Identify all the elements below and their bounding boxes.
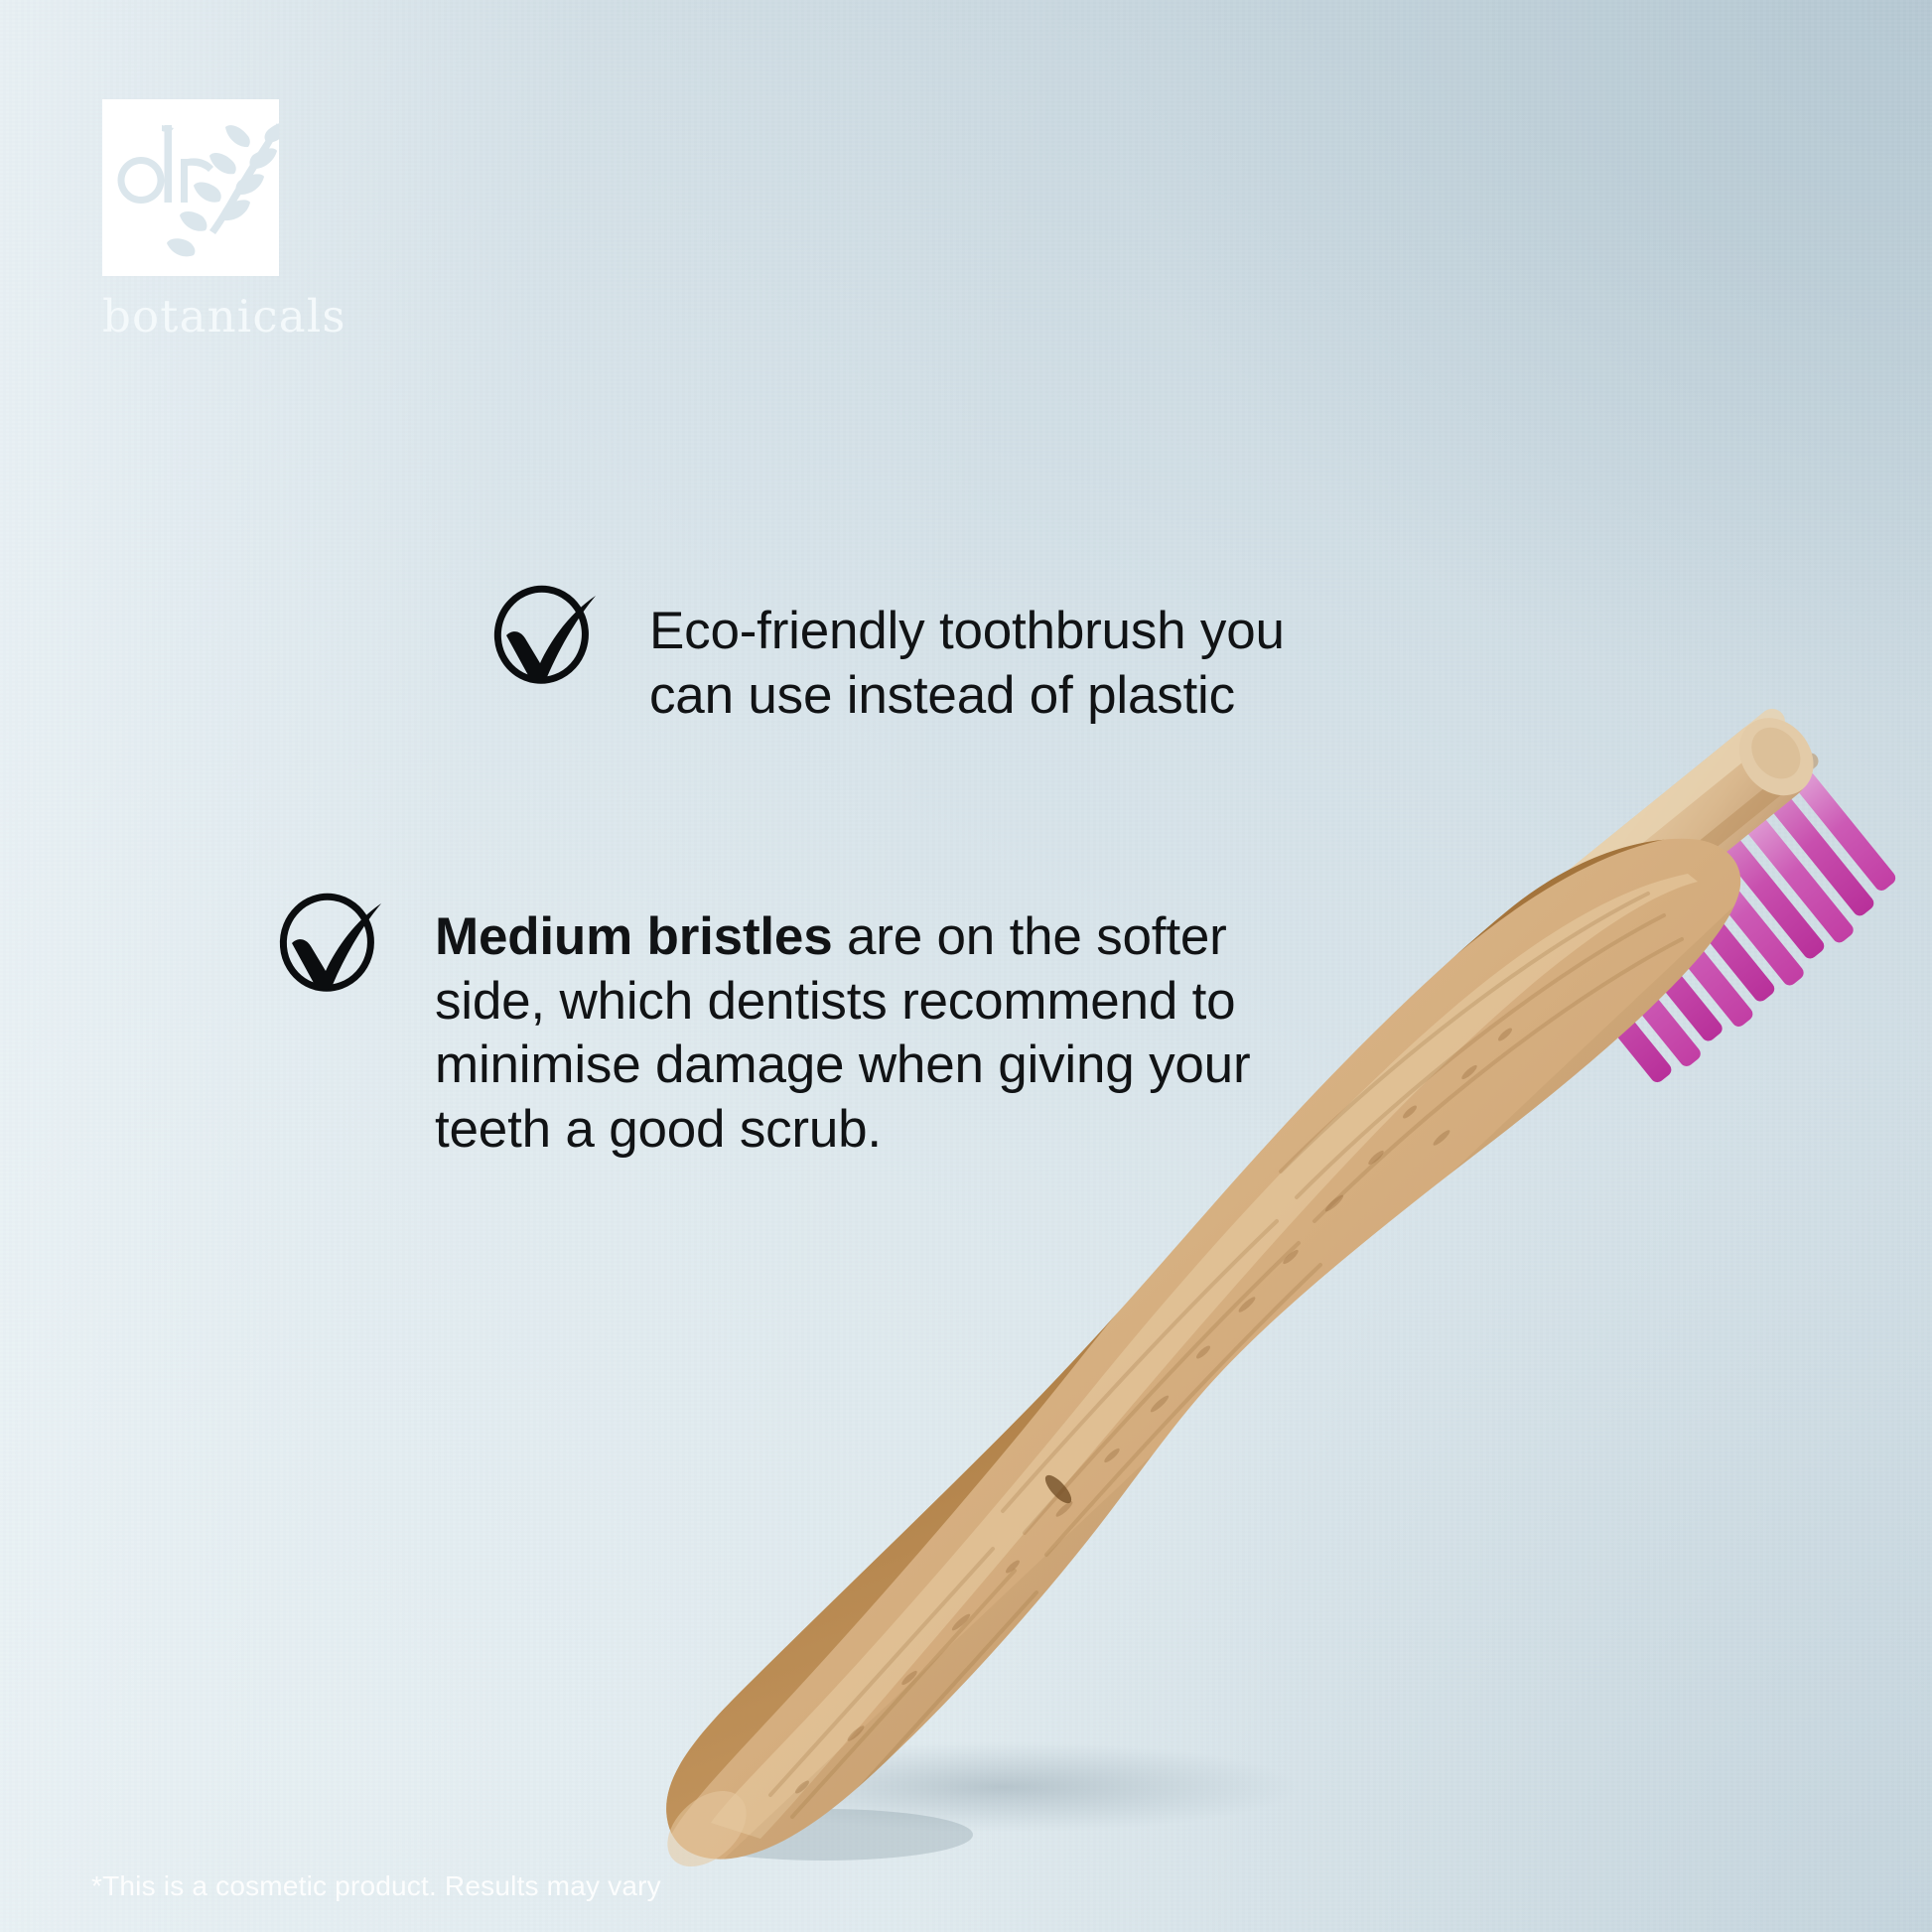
- logo-mark-box: [102, 99, 279, 276]
- feature-bullet-2: Medium bristles are on the softer side, …: [270, 896, 1283, 1163]
- logo-wordmark: botanicals: [102, 294, 323, 339]
- product-marketing-image: botanicals Eco-friendly toothbrush you c…: [0, 0, 1932, 1932]
- feature-text-2: Medium bristles are on the softer side, …: [435, 905, 1269, 1163]
- disclaimer-text: *This is a cosmetic product. Results may…: [91, 1870, 661, 1902]
- check-circle-icon: [270, 890, 387, 1007]
- feature-text-2-lead: Medium bristles: [435, 907, 832, 966]
- brand-logo: botanicals: [102, 99, 323, 339]
- check-circle-icon: [484, 582, 602, 699]
- feature-text-1: Eco-friendly toothbrush you can use inst…: [649, 600, 1378, 728]
- feature-bullet-1: Eco-friendly toothbrush you can use inst…: [484, 588, 1378, 728]
- logo-dr-leaf-icon: [102, 99, 279, 276]
